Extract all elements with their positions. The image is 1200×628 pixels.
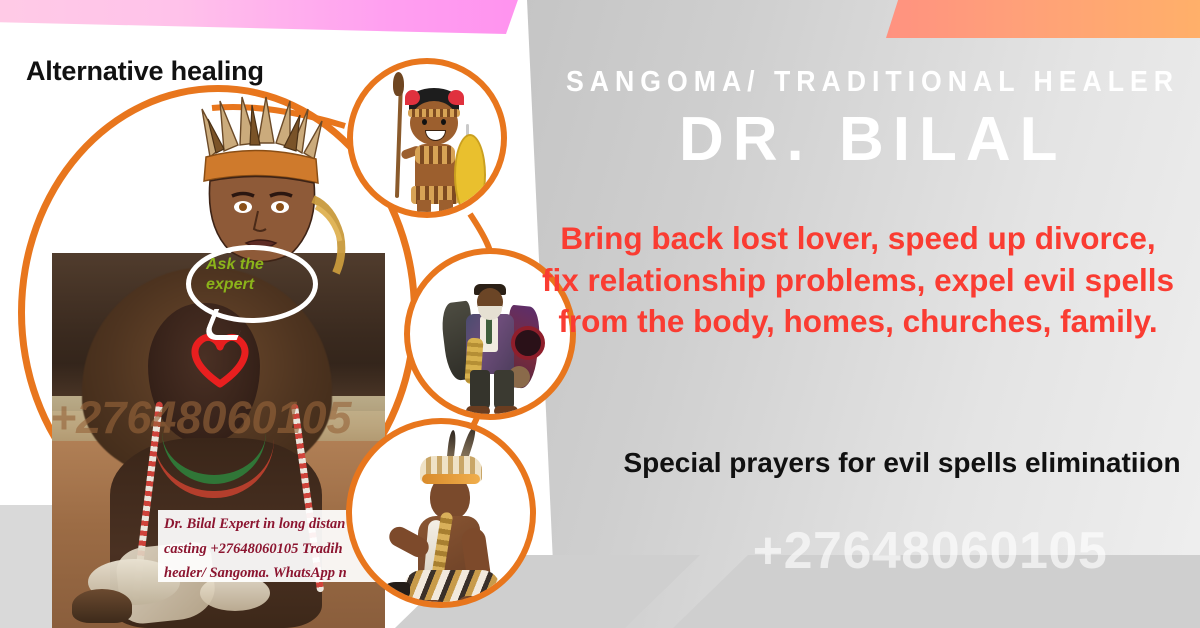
top-pink-banner (0, 0, 520, 34)
subheading-text: Special prayers for evil spells eliminat… (612, 444, 1192, 481)
services-text: Bring back lost lover, speed up divorce,… (540, 218, 1176, 343)
healer-name: DR. BILAL (679, 104, 1067, 175)
speech-bubble-text: Ask the expert (206, 255, 302, 294)
bubble-crouching-healer (346, 418, 536, 608)
phone-watermark: +27648060105 (660, 521, 1200, 581)
caption-line-3: healer/ Sangoma. WhatsApp n (158, 559, 388, 582)
top-orange-banner (886, 0, 1200, 38)
poster-canvas: Alternative healing (0, 0, 1200, 628)
photo-watermark-phone: +27648060105 (50, 392, 430, 444)
kicker-text: SANGOMA/ TRADITIONAL HEALER (566, 66, 1136, 99)
bubble-warrior (347, 58, 507, 218)
page-title: Alternative healing (26, 56, 264, 87)
speech-bubble: Ask the expert (186, 245, 318, 323)
